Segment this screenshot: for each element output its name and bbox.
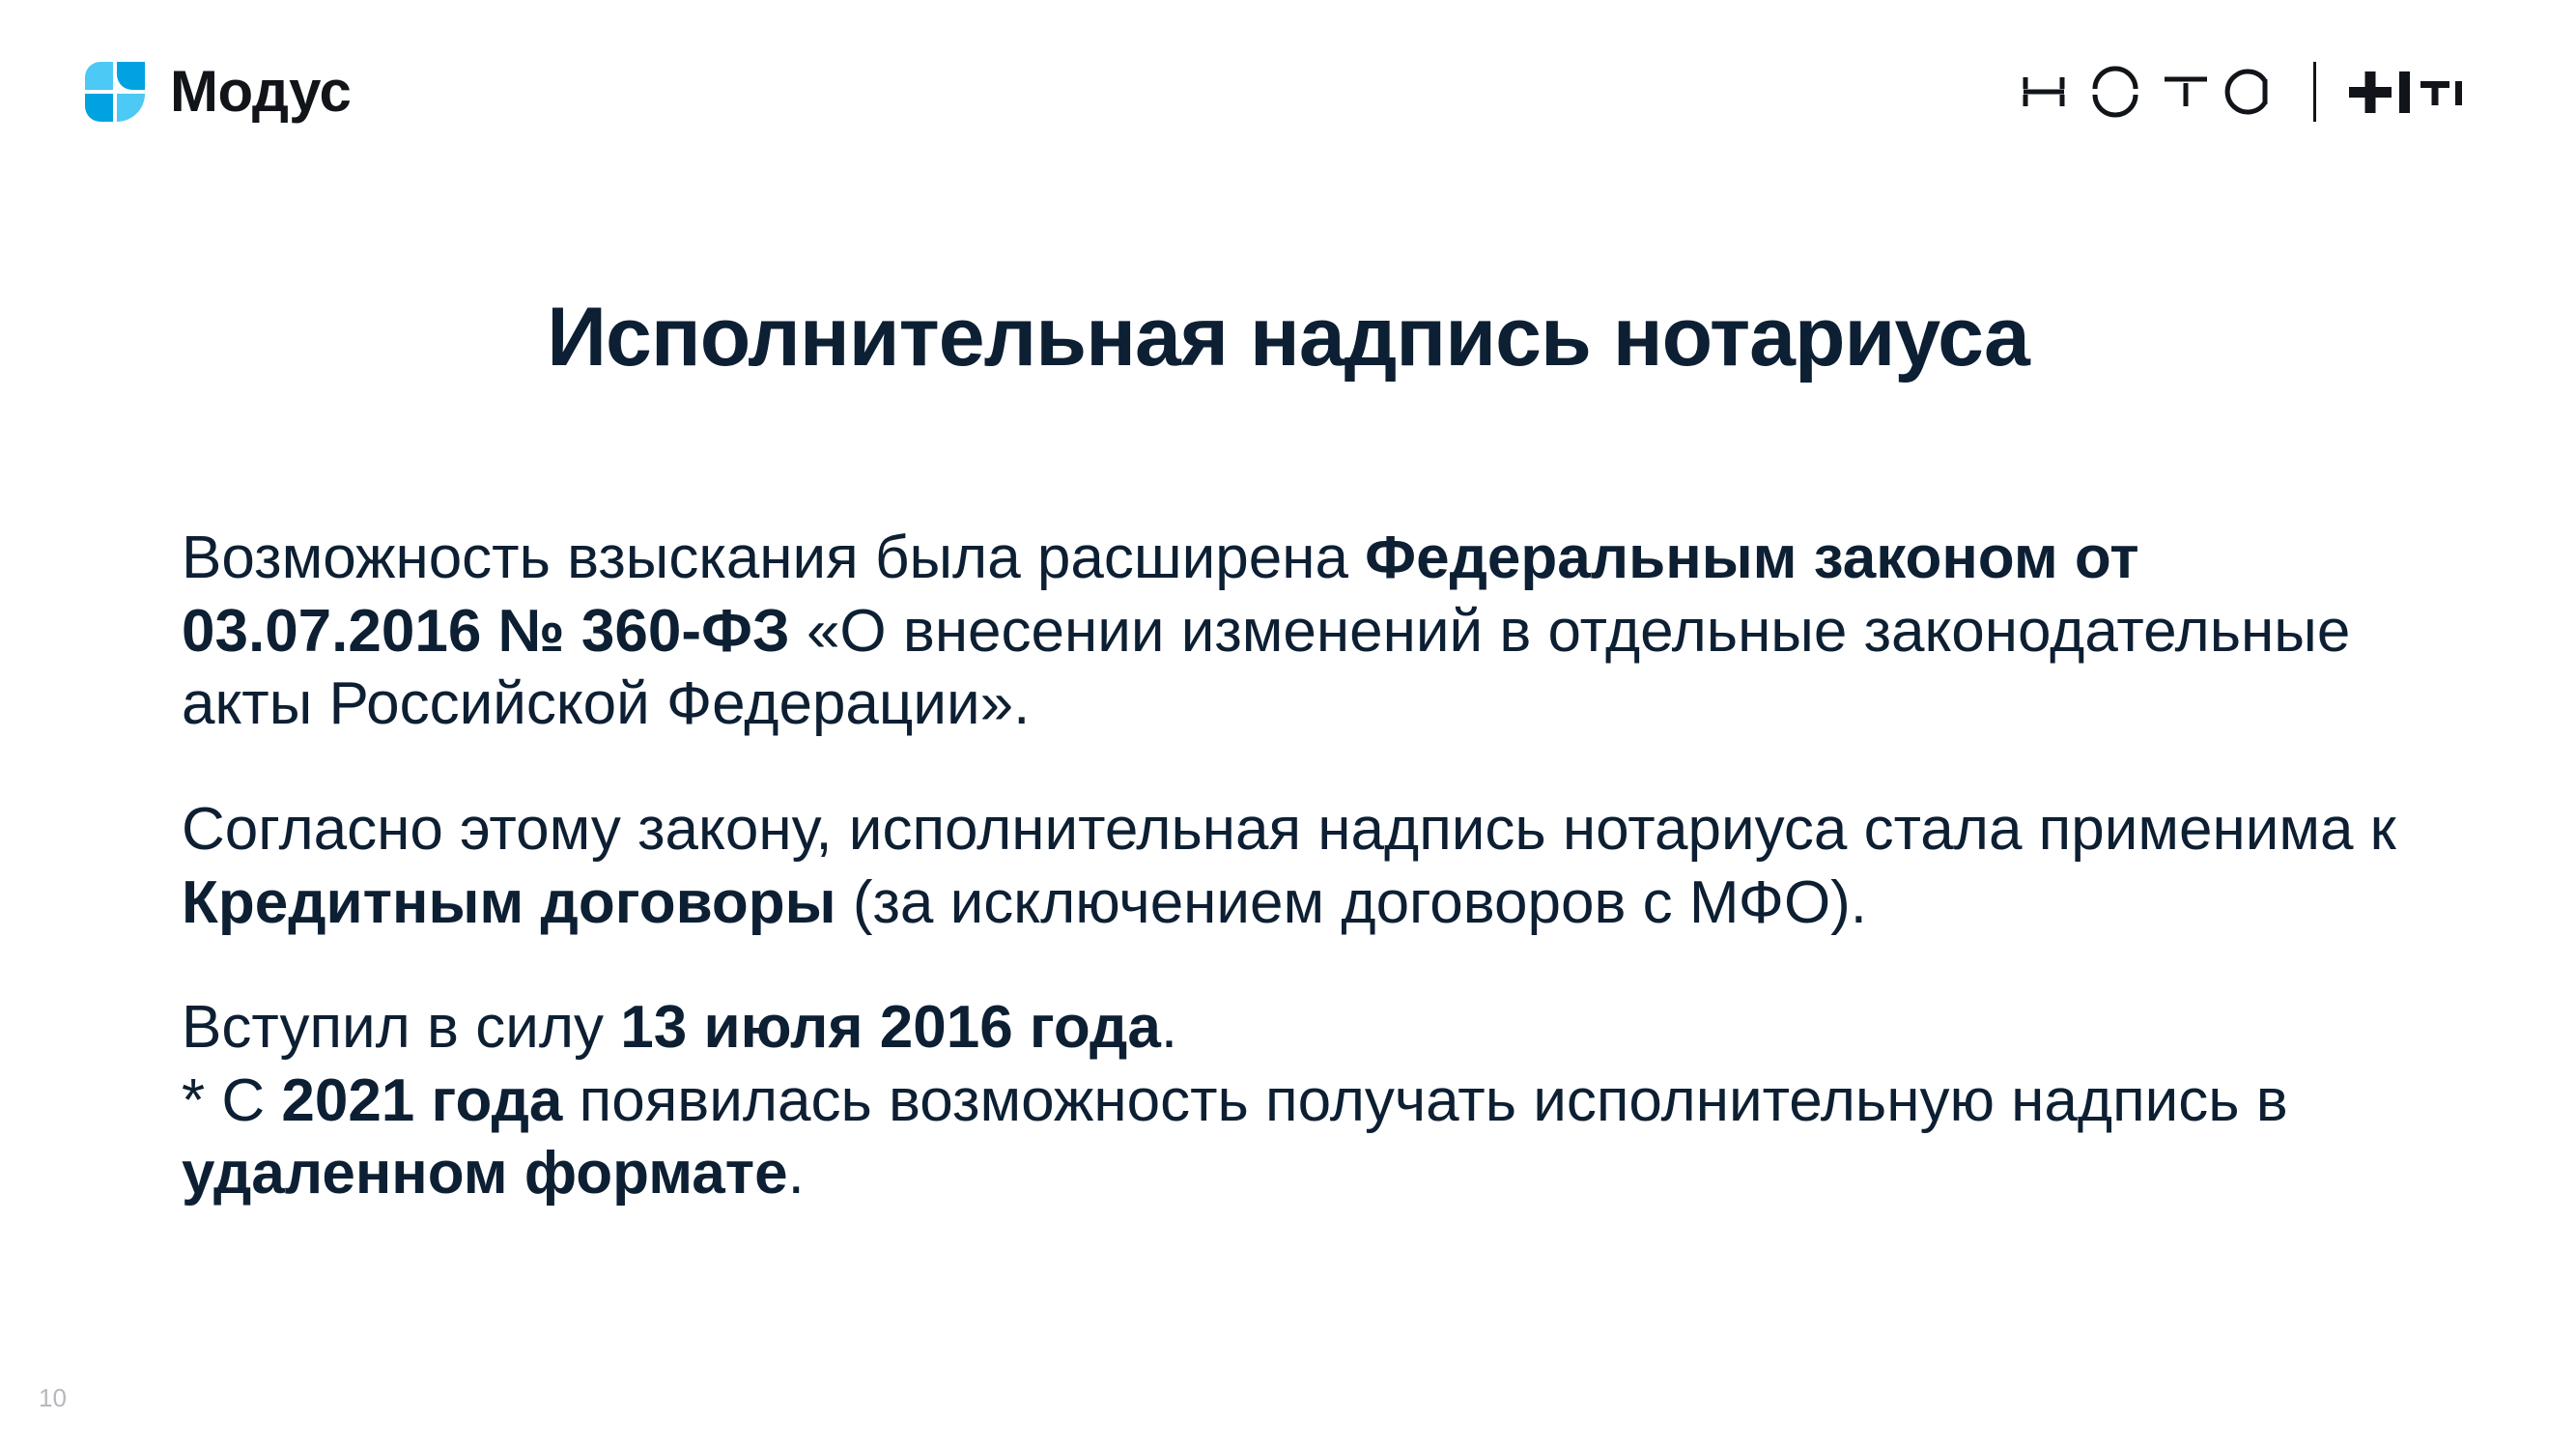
brand-lockup: Модус [85,62,351,122]
slide-header: Модус [0,0,2576,184]
slide-root: Модус [0,0,2576,1449]
t1-logo-icon [2349,62,2475,122]
partner-logos [2020,62,2475,122]
page-number: 10 [39,1385,67,1410]
modus-four-squares-icon [85,62,145,122]
paragraph-effective-date: Вступил в силу 13 июля 2016 года.* С 202… [182,991,2431,1210]
paragraph-credit-agreements: Согласно этому закону, исполнительная на… [182,793,2431,939]
logo-divider [2313,62,2316,122]
paragraph-federal-law: Возможность взыскания была расширена Фед… [182,522,2431,741]
nota-logo-icon [2020,62,2280,122]
brand-name: Модус [170,63,351,121]
slide-body: Возможность взыскания была расширена Фед… [182,522,2431,1210]
page-title: Исполнительная надпись нотариуса [0,293,2576,383]
